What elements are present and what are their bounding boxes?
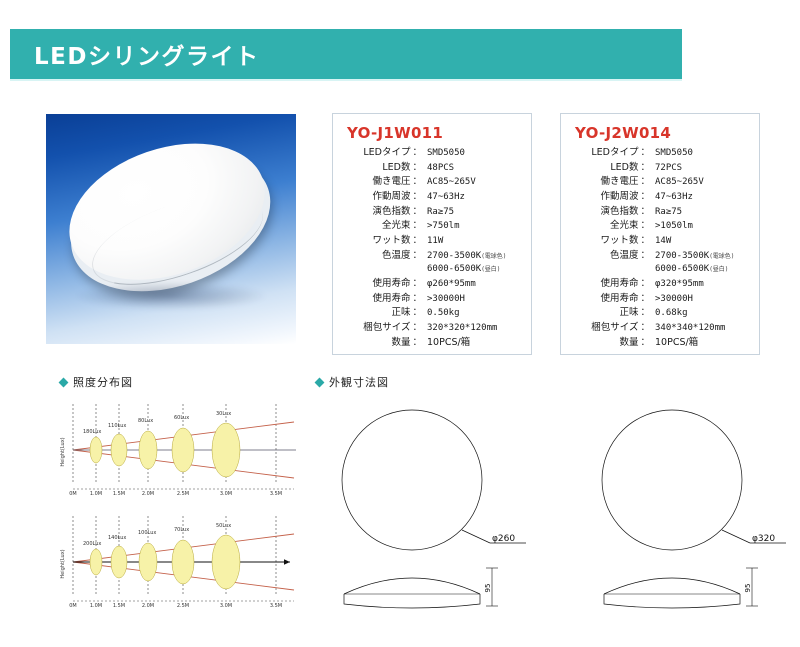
spec-row: 使用寿命：φ320*95mm bbox=[567, 277, 751, 292]
dim1-side-body bbox=[344, 594, 480, 608]
spec-label: ワット数 bbox=[372, 234, 410, 248]
spec-value: 11W bbox=[424, 235, 523, 249]
illuminance-chart-1-svg: Height(Lux) bbox=[56, 400, 306, 505]
chart2-annotations: 200Lux 140Lux 100Lux 70Lux 50Lux bbox=[83, 523, 231, 547]
dim1-leader-line bbox=[462, 530, 490, 543]
spec-value: 47~63Hz bbox=[424, 191, 523, 205]
spec-value-cont-sub: (昼白) bbox=[709, 266, 728, 273]
spec-value: 48PCS bbox=[424, 162, 523, 176]
spec-row: 正味：0.68kg bbox=[567, 306, 751, 321]
spec-row: 数量：10PCS/箱 bbox=[567, 336, 751, 350]
spec-colon: ： bbox=[638, 190, 652, 204]
spec-row: 作動周波：47~63Hz bbox=[567, 190, 751, 205]
spec-colon: ： bbox=[410, 306, 424, 320]
spec-colon: ： bbox=[410, 190, 424, 204]
spec-value-text: 2700-3500K bbox=[427, 251, 481, 261]
spec-colon: ： bbox=[638, 205, 652, 219]
spec-value-sub: (電球色) bbox=[481, 253, 506, 260]
spec-colon: ： bbox=[638, 175, 652, 189]
illuminance-chart-2-svg: Height(Lux) bbox=[56, 512, 306, 617]
spec-label: LEDタイプ bbox=[591, 146, 638, 160]
spec-label: 使用寿命 bbox=[372, 277, 410, 291]
chart1-xtick-5: 3.0M bbox=[220, 491, 232, 497]
spec-value: 10PCS/箱 bbox=[652, 336, 751, 350]
spec-value: >1050lm bbox=[652, 220, 751, 234]
chart2-xtick-1: 1.0M bbox=[90, 603, 102, 609]
spec-value-cont-sub: (昼白) bbox=[481, 266, 500, 273]
spec-colon: ： bbox=[638, 321, 652, 335]
page-title: LEDシリングライト bbox=[34, 37, 259, 71]
page-root: LEDシリングライト YO-J1W011 LEDタイプ：SMD5050 LED数… bbox=[0, 0, 800, 647]
spec-row: 梱包サイズ：320*320*120mm bbox=[339, 321, 523, 336]
spec-row: 作動周波：47~63Hz bbox=[339, 190, 523, 205]
chart1-ylabel: Height(Lux) bbox=[60, 437, 66, 466]
spec-value-cont: 6000-6500K bbox=[655, 264, 709, 274]
spec-panel-1: YO-J1W011 LEDタイプ：SMD5050 LED数：48PCS 働き電圧… bbox=[332, 113, 532, 355]
chart2-annotation-4: 50Lux bbox=[216, 523, 231, 529]
spec-panel-2: YO-J2W014 LEDタイプ：SMD5050 LED数：72PCS 働き電圧… bbox=[560, 113, 760, 355]
illuminance-chart-2: Height(Lux) bbox=[56, 512, 306, 617]
spec-value: Ra≥75 bbox=[652, 206, 751, 220]
section-header-dimension: 外観寸法図 bbox=[316, 374, 389, 390]
spec-row: 数量：10PCS/箱 bbox=[339, 336, 523, 350]
dim2-diameter-label: φ320 bbox=[752, 534, 775, 544]
spec-row: 6000-6500K(昼白) bbox=[339, 263, 523, 277]
chart1-annotation-3: 60Lux bbox=[174, 415, 189, 421]
spec-colon: ： bbox=[410, 146, 424, 160]
dim2-top-view-circle bbox=[602, 410, 742, 550]
chart1-annotation-4: 30Lux bbox=[216, 411, 231, 417]
chart1-annotations: 180Lux 110Lux 80Lux 60Lux 30Lux bbox=[83, 411, 231, 435]
spec-value: 47~63Hz bbox=[652, 191, 751, 205]
spec-value: Ra≥75 bbox=[424, 206, 523, 220]
spec-label: 働き電圧 bbox=[600, 175, 638, 189]
dim1-side-top bbox=[344, 578, 480, 594]
page-banner: LEDシリングライト bbox=[10, 29, 682, 79]
spec-colon: ： bbox=[638, 277, 652, 291]
spec-row: ワット数：14W bbox=[567, 234, 751, 249]
dim2-side-top bbox=[604, 578, 740, 594]
chart2-annotation-1: 140Lux bbox=[108, 535, 126, 541]
dim2-leader-line bbox=[722, 530, 750, 543]
spec-row: 使用寿命：>30000H bbox=[567, 292, 751, 307]
spec-row: 色温度：2700-3500K(電球色) bbox=[339, 249, 523, 264]
spec-value: >750lm bbox=[424, 220, 523, 234]
spec-label: 梱包サイズ bbox=[363, 321, 410, 335]
spec-value: >30000H bbox=[652, 293, 751, 307]
spec-label: 作動周波 bbox=[372, 190, 410, 204]
spec-model-2: YO-J2W014 bbox=[575, 124, 759, 142]
spec-value: 14W bbox=[652, 235, 751, 249]
spec-label: LED数 bbox=[382, 161, 410, 175]
spec-colon: ： bbox=[638, 234, 652, 248]
spec-label: ワット数 bbox=[600, 234, 638, 248]
spec-row: 全光束：>1050lm bbox=[567, 219, 751, 234]
spec-colon: ： bbox=[410, 175, 424, 189]
spec-row: 全光束：>750lm bbox=[339, 219, 523, 234]
spec-label: 演色指数 bbox=[600, 205, 638, 219]
spec-value: SMD5050 bbox=[652, 147, 751, 161]
section-label-dimension: 外観寸法図 bbox=[329, 374, 389, 390]
spec-row: 正味：0.50kg bbox=[339, 306, 523, 321]
spec-colon: ： bbox=[638, 161, 652, 175]
chart2-annotation-3: 70Lux bbox=[174, 527, 189, 533]
lamp-shadow bbox=[76, 282, 266, 310]
spec-row: 梱包サイズ：340*340*120mm bbox=[567, 321, 751, 336]
spec-colon: ： bbox=[410, 161, 424, 175]
spec-colon: ： bbox=[410, 205, 424, 219]
chart2-xtick-5: 3.0M bbox=[220, 603, 232, 609]
spec-label: 使用寿命 bbox=[600, 292, 638, 306]
spec-row: LEDタイプ：SMD5050 bbox=[339, 146, 523, 161]
chart1-annotation-1: 110Lux bbox=[108, 423, 126, 429]
spec-colon: ： bbox=[410, 219, 424, 233]
chart2-xtick-6: 3.5M bbox=[270, 603, 282, 609]
spec-colon: ： bbox=[638, 336, 652, 350]
chart1-annotation-0: 180Lux bbox=[83, 429, 101, 435]
spec-value: SMD5050 bbox=[424, 147, 523, 161]
section-header-illuminance: 照度分布図 bbox=[60, 374, 133, 390]
chart2-xtick-4: 2.5M bbox=[177, 603, 189, 609]
spec-value: 72PCS bbox=[652, 162, 751, 176]
spec-label: 働き電圧 bbox=[372, 175, 410, 189]
spec-colon: ： bbox=[638, 146, 652, 160]
spec-value: 320*320*120mm bbox=[424, 322, 523, 336]
chart2-ylabel: Height(Lux) bbox=[60, 549, 66, 578]
spec-colon: ： bbox=[410, 277, 424, 291]
illuminance-chart-1: Height(Lux) bbox=[56, 400, 306, 505]
spec-value: 340*340*120mm bbox=[652, 322, 751, 336]
spec-colon: ： bbox=[410, 336, 424, 350]
diamond-bullet-icon bbox=[59, 377, 69, 387]
spec-row: 色温度：2700-3500K(電球色) bbox=[567, 249, 751, 264]
spec-model-1: YO-J1W011 bbox=[347, 124, 531, 142]
spec-label: 使用寿命 bbox=[372, 292, 410, 306]
spec-colon: ： bbox=[410, 249, 424, 263]
spec-row: 演色指数：Ra≥75 bbox=[339, 205, 523, 220]
spec-label: 全光束 bbox=[382, 219, 411, 233]
spec-row: 演色指数：Ra≥75 bbox=[567, 205, 751, 220]
spec-value: 0.50kg bbox=[424, 307, 523, 321]
chart2-xtick-0: 0M bbox=[69, 603, 77, 609]
spec-colon: ： bbox=[638, 219, 652, 233]
chart1-annotation-2: 80Lux bbox=[138, 418, 153, 424]
spec-row: ワット数：11W bbox=[339, 234, 523, 249]
chart1-xtick-0: 0M bbox=[69, 491, 77, 497]
spec-row: LED数：72PCS bbox=[567, 161, 751, 176]
chart2-annotation-0: 200Lux bbox=[83, 541, 101, 547]
dim1-top-view-circle bbox=[342, 410, 482, 550]
spec-label: 数量 bbox=[619, 336, 638, 350]
spec-label: 全光束 bbox=[610, 219, 639, 233]
spec-value: 2700-3500K(電球色) bbox=[424, 250, 523, 264]
spec-label: 正味 bbox=[391, 306, 410, 320]
spec-value: φ260*95mm bbox=[424, 278, 523, 292]
spec-colon: ： bbox=[638, 292, 652, 306]
spec-label: 作動周波 bbox=[600, 190, 638, 204]
chart1-xtick-1: 1.0M bbox=[90, 491, 102, 497]
chart1-xtick-3: 2.0M bbox=[142, 491, 154, 497]
dimension-drawing-2-svg: φ320 95 bbox=[600, 398, 800, 628]
spec-label: 正味 bbox=[619, 306, 638, 320]
spec-label: 使用寿命 bbox=[600, 277, 638, 291]
dim2-height-label: 95 bbox=[744, 584, 752, 593]
spec-label: 演色指数 bbox=[372, 205, 410, 219]
spec-rows-2: LEDタイプ：SMD5050 LED数：72PCS 働き電圧：AC85~265V… bbox=[561, 146, 759, 350]
spec-row: 使用寿命：φ260*95mm bbox=[339, 277, 523, 292]
chart2-annotation-2: 100Lux bbox=[138, 530, 156, 536]
spec-row: LED数：48PCS bbox=[339, 161, 523, 176]
spec-colon: ： bbox=[410, 292, 424, 306]
section-label-illuminance: 照度分布図 bbox=[73, 374, 133, 390]
spec-row: 使用寿命：>30000H bbox=[339, 292, 523, 307]
spec-row: LEDタイプ：SMD5050 bbox=[567, 146, 751, 161]
spec-label: LED数 bbox=[610, 161, 638, 175]
spec-colon: ： bbox=[638, 306, 652, 320]
dim1-height-label: 95 bbox=[484, 584, 492, 593]
dimension-drawing-1: φ260 95 bbox=[340, 398, 550, 628]
spec-value: AC85~265V bbox=[424, 176, 523, 190]
chart2-xtick-2: 1.5M bbox=[113, 603, 125, 609]
spec-value-cont: 6000-6500K bbox=[427, 264, 481, 274]
chart1-xtick-4: 2.5M bbox=[177, 491, 189, 497]
chart1-xtick-6: 3.5M bbox=[270, 491, 282, 497]
spec-colon: ： bbox=[638, 249, 652, 263]
spec-label: 色温度 bbox=[382, 249, 411, 263]
dim2-side-body bbox=[604, 594, 740, 608]
spec-value: AC85~265V bbox=[652, 176, 751, 190]
spec-row: 働き電圧：AC85~265V bbox=[567, 175, 751, 190]
spec-value-sub: (電球色) bbox=[709, 253, 734, 260]
spec-value: 6000-6500K(昼白) bbox=[652, 263, 751, 277]
spec-label: 梱包サイズ bbox=[591, 321, 638, 335]
chart2-xtick-3: 2.0M bbox=[142, 603, 154, 609]
spec-value: 2700-3500K(電球色) bbox=[652, 250, 751, 264]
diamond-bullet-icon bbox=[315, 377, 325, 387]
spec-label: LEDタイプ bbox=[363, 146, 410, 160]
spec-value: φ320*95mm bbox=[652, 278, 751, 292]
chart1-xticks: 0M 1.0M 1.5M 2.0M 2.5M 3.0M 3.5M bbox=[69, 491, 282, 497]
spec-row: 6000-6500K(昼白) bbox=[567, 263, 751, 277]
spec-value: 10PCS/箱 bbox=[424, 336, 523, 350]
spec-rows-1: LEDタイプ：SMD5050 LED数：48PCS 働き電圧：AC85~265V… bbox=[333, 146, 531, 350]
dimension-drawing-2: φ320 95 bbox=[600, 398, 800, 628]
chart2-axis-arrow-icon bbox=[284, 559, 290, 565]
spec-colon: ： bbox=[410, 234, 424, 248]
dim1-diameter-label: φ260 bbox=[492, 534, 515, 544]
spec-value: >30000H bbox=[424, 293, 523, 307]
spec-label: 色温度 bbox=[610, 249, 639, 263]
chart2-xticks: 0M 1.0M 1.5M 2.0M 2.5M 3.0M 3.5M bbox=[69, 603, 282, 609]
spec-value: 0.68kg bbox=[652, 307, 751, 321]
dimension-drawing-1-svg: φ260 95 bbox=[340, 398, 550, 628]
spec-row: 働き電圧：AC85~265V bbox=[339, 175, 523, 190]
spec-colon: ： bbox=[410, 321, 424, 335]
product-photo bbox=[46, 114, 296, 344]
spec-value: 6000-6500K(昼白) bbox=[424, 263, 523, 277]
chart1-xtick-2: 1.5M bbox=[113, 491, 125, 497]
banner-underline bbox=[10, 79, 682, 81]
spec-value-text: 2700-3500K bbox=[655, 251, 709, 261]
spec-label: 数量 bbox=[391, 336, 410, 350]
